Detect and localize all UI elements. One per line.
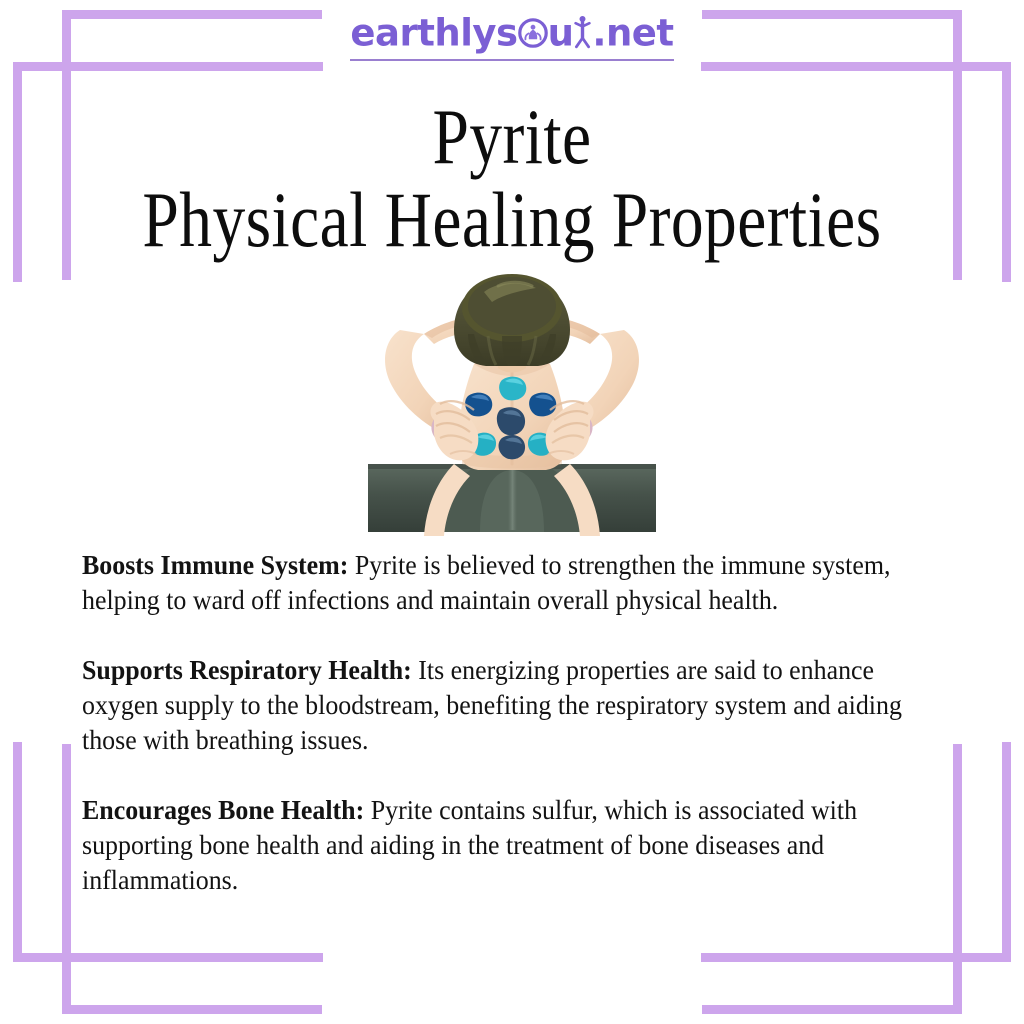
- property-item-respiratory: Supports Respiratory Health: Its energiz…: [82, 653, 910, 758]
- yoga-figure-l-icon: [573, 14, 592, 52]
- property-heading-immune: Boosts Immune System:: [82, 550, 348, 580]
- property-item-bone: Encourages Bone Health: Pyrite contains …: [82, 793, 910, 898]
- page-title: Pyrite Physical Healing Properties: [0, 97, 1024, 260]
- property-heading-bone: Encourages Bone Health:: [82, 795, 364, 825]
- logo-text-u: u: [548, 12, 574, 55]
- site-logo[interactable]: earthlys u .net: [0, 14, 1024, 61]
- page-title-subtitle: Physical Healing Properties: [82, 180, 942, 260]
- property-heading-respiratory: Supports Respiratory Health:: [82, 655, 412, 685]
- healing-properties-list: Boosts Immune System: Pyrite is believed…: [82, 548, 944, 898]
- logo-text-net: .net: [592, 12, 673, 55]
- meditating-figure-o-icon: [518, 18, 548, 48]
- logo-text-earthlys: earthlys: [350, 12, 517, 55]
- page-title-crystal-name: Pyrite: [82, 97, 942, 177]
- crystal-massage-illustration: [362, 268, 662, 536]
- logo-wordmark: earthlys u .net: [350, 14, 673, 61]
- infographic-page: earthlys u .net Pyrite Physical Healing: [0, 0, 1024, 1024]
- property-item-immune: Boosts Immune System: Pyrite is believed…: [82, 548, 910, 618]
